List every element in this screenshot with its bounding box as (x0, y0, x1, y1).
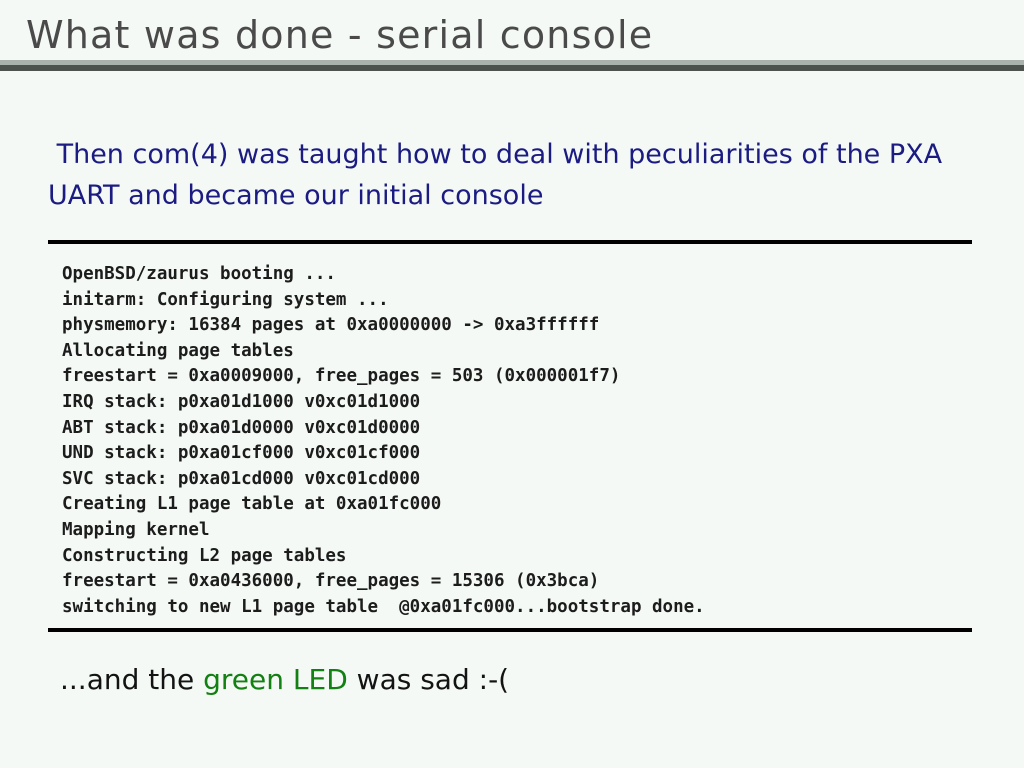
page-title: What was done - serial console (26, 12, 653, 58)
console-output-text: OpenBSD/zaurus booting ... initarm: Conf… (48, 244, 972, 628)
closing-suffix: was sad :-( (348, 663, 509, 696)
slide-header: What was done - serial console (0, 0, 1024, 74)
console-bottom-rule (48, 628, 972, 632)
title-divider-dark-band (0, 65, 1024, 71)
title-divider (0, 60, 1024, 72)
closing-prefix: ...and the (60, 663, 203, 696)
green-led-highlight: green LED (203, 663, 348, 696)
intro-paragraph: Then com(4) was taught how to deal with … (48, 134, 968, 216)
closing-line: ...and the green LED was sad :-( (60, 660, 509, 700)
console-transcript-block: OpenBSD/zaurus booting ... initarm: Conf… (48, 240, 972, 632)
